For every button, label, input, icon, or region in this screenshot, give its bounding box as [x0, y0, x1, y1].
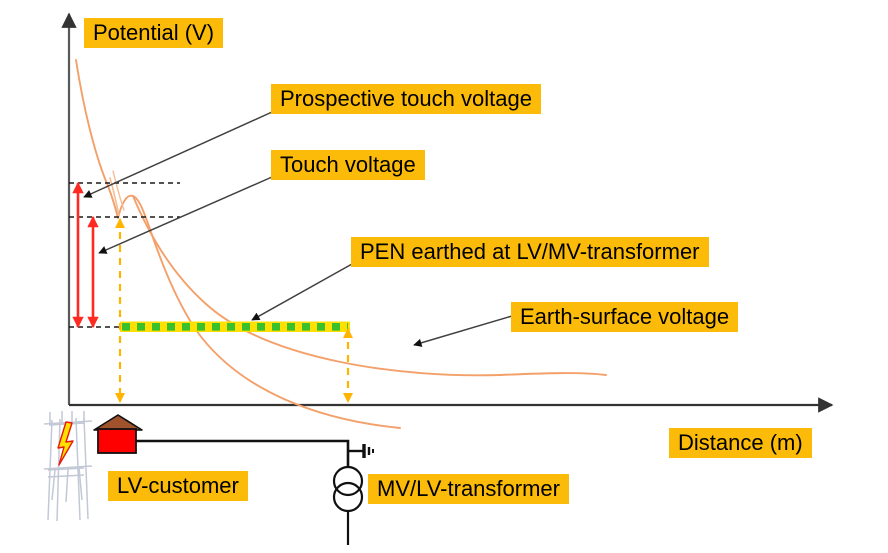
y-axis-label-text: Potential (V) — [93, 21, 214, 44]
leader-pen-earthed — [252, 264, 352, 320]
house-icon — [94, 415, 142, 453]
earth-electrode-icon — [348, 444, 373, 458]
axis-group — [69, 14, 832, 405]
leader-touch-voltage — [99, 177, 272, 253]
diagram-canvas: Potential (V) Distance (m) Prospective t… — [0, 0, 888, 553]
label-lv-customer: LV-customer — [108, 471, 248, 501]
transformer-icon — [334, 467, 362, 545]
callout-pen-earthed-text: PEN earthed at LV/MV-transformer — [360, 240, 700, 263]
x-axis-label-text: Distance (m) — [678, 431, 803, 454]
supply-conductor — [136, 441, 348, 467]
drop-line-group — [120, 219, 348, 402]
callout-touch-voltage-text: Touch voltage — [280, 153, 416, 176]
callout-pen-earthed: PEN earthed at LV/MV-transformer — [351, 237, 709, 267]
pen-conductor — [120, 322, 350, 333]
leader-earth-surface-voltage — [414, 316, 512, 345]
leader-prospective-touch-voltage — [84, 112, 272, 197]
callout-touch-voltage: Touch voltage — [271, 150, 425, 180]
label-lv-customer-text: LV-customer — [117, 474, 239, 497]
label-mv-lv-transformer: MV/LV-transformer — [368, 474, 569, 504]
callout-prospective-touch-voltage-text: Prospective touch voltage — [280, 87, 532, 110]
x-axis-label: Distance (m) — [669, 428, 812, 458]
callout-earth-surface-voltage: Earth-surface voltage — [511, 302, 738, 332]
voltage-arrow-group — [78, 183, 93, 327]
callout-earth-surface-voltage-text: Earth-surface voltage — [520, 305, 729, 328]
callout-prospective-touch-voltage: Prospective touch voltage — [271, 84, 541, 114]
label-mv-lv-transformer-text: MV/LV-transformer — [377, 477, 560, 500]
y-axis-label: Potential (V) — [84, 18, 223, 48]
